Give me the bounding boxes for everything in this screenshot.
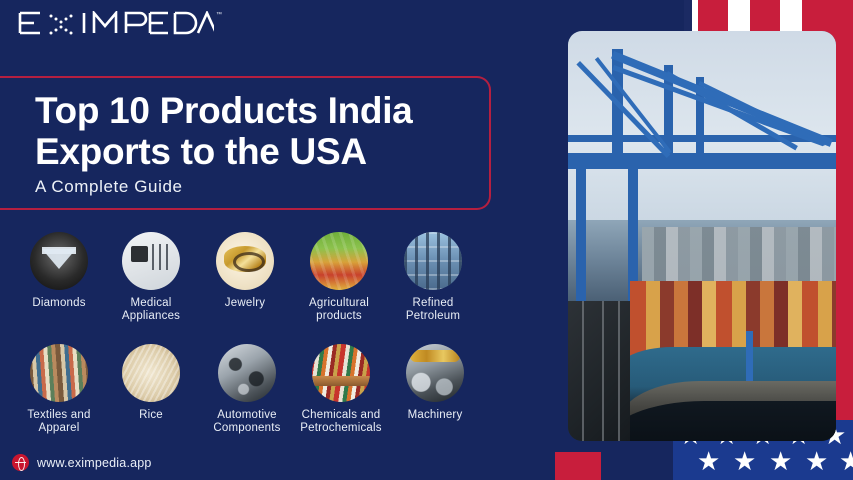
product-label-line1: Textiles and xyxy=(27,409,90,421)
product-label-line1: Chemicals and xyxy=(302,409,381,421)
product-label-line1: Automotive xyxy=(217,409,277,421)
product-label-line1: Medical xyxy=(130,297,171,309)
flag-red-block-decoration xyxy=(555,452,601,480)
product-label-line2: Components xyxy=(213,422,280,434)
automotive-components-icon xyxy=(218,344,276,402)
product-label: Refined Petroleum xyxy=(378,297,488,323)
globe-icon xyxy=(12,454,29,471)
product-label: Rice xyxy=(96,409,206,422)
logo-trademark: ™ xyxy=(216,12,222,18)
rice-icon xyxy=(122,344,180,402)
diamond-icon xyxy=(30,232,88,290)
port-photo xyxy=(568,31,836,441)
title-line-1: Top 10 Products India xyxy=(35,90,505,131)
refined-petroleum-icon xyxy=(404,232,462,290)
page-subtitle: A Complete Guide xyxy=(35,177,505,197)
machinery-icon xyxy=(406,344,464,402)
title-line-2: Exports to the USA xyxy=(35,131,505,172)
agricultural-products-icon xyxy=(310,232,368,290)
product-item-machinery[interactable]: Machinery xyxy=(380,344,490,422)
product-label-line2: products xyxy=(316,310,362,322)
eximpedia-logo[interactable]: ™ xyxy=(18,9,222,37)
product-item-rice[interactable]: Rice xyxy=(96,344,206,422)
medical-appliances-icon xyxy=(122,232,180,290)
product-label-line2: Appliances xyxy=(122,310,180,322)
product-label-line1: Agricultural xyxy=(309,297,369,309)
chemicals-petrochemicals-icon xyxy=(312,344,370,402)
textiles-apparel-icon xyxy=(30,344,88,402)
poster-canvas: ★ ★ ★ ★ ★ ★ ★ ★ ★ ★ xyxy=(0,0,853,480)
product-label-line2: Petrochemicals xyxy=(300,422,381,434)
jewelry-icon xyxy=(216,232,274,290)
product-label-line2: Petroleum xyxy=(406,310,460,322)
footer-url-link[interactable]: www.eximpedia.app xyxy=(12,454,152,471)
dock-road xyxy=(568,301,630,441)
product-label: Machinery xyxy=(380,409,490,422)
product-row-2: Textiles and Apparel Rice Automotive Com… xyxy=(0,344,520,456)
product-label-line2: Apparel xyxy=(38,422,79,434)
product-item-refined-petroleum[interactable]: Refined Petroleum xyxy=(378,232,488,323)
page-title: Top 10 Products India Exports to the USA… xyxy=(35,90,505,197)
product-grid: Diamonds Medical Appliances Jewelry Agri… xyxy=(0,232,520,456)
product-label-line1: Refined xyxy=(412,297,453,309)
product-row-1: Diamonds Medical Appliances Jewelry Agri… xyxy=(0,232,520,344)
footer-url-text: www.eximpedia.app xyxy=(37,456,152,470)
